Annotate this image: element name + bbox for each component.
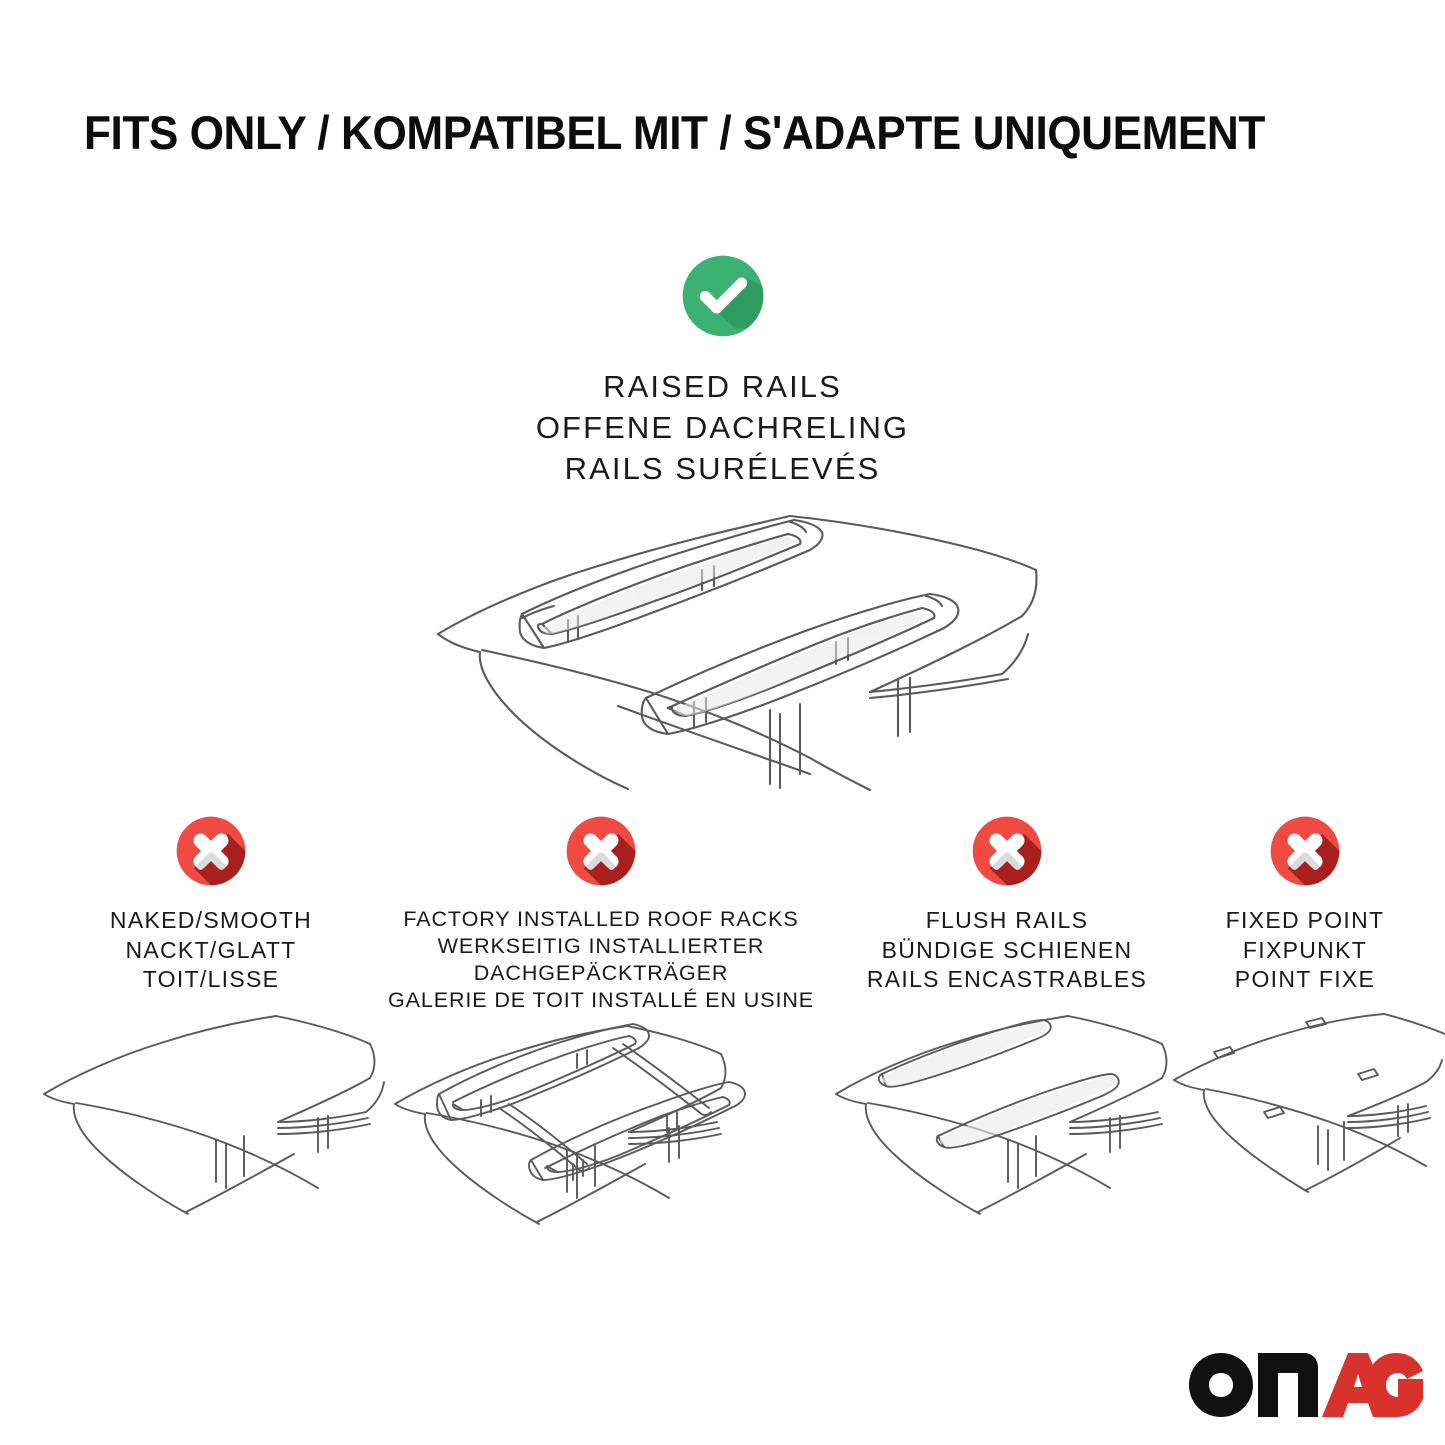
compatible-label-fr: RAILS SURÉLEVÉS <box>0 448 1445 489</box>
incompatible-label-de: NACKT/GLATT <box>26 936 396 966</box>
incompatible-label-en: NAKED/SMOOTH <box>26 906 396 936</box>
incompatible-item-fixed-point: FIXED POINT FIXPUNKT POINT FIXE <box>1168 812 1442 995</box>
incompatible-item-naked-smooth: NAKED/SMOOTH NACKT/GLATT TOIT/LISSE <box>26 812 396 995</box>
page-title: FITS ONLY / KOMPATIBEL MIT / S'ADAPTE UN… <box>84 106 1306 160</box>
incompatible-label-fr: POINT FIXE <box>1168 965 1442 995</box>
product-compatibility-infographic: FITS ONLY / KOMPATIBEL MIT / S'ADAPTE UN… <box>0 0 1445 1445</box>
red-x-icon <box>968 812 1046 890</box>
incompatible-label-de-2: DACHGEPÄCKTRÄGER <box>381 960 821 987</box>
incompatible-labels: FACTORY INSTALLED ROOF RACKS WERKSEITIG … <box>381 906 821 1014</box>
red-x-icon <box>172 812 250 890</box>
incompatible-label-fr: RAILS ENCASTRABLES <box>820 965 1194 995</box>
incompatible-label-de: BÜNDIGE SCHIENEN <box>820 936 1194 966</box>
car-roof-fixed-point-illustration <box>1168 1002 1442 1232</box>
incompatible-label-en: FLUSH RAILS <box>820 906 1194 936</box>
incompatible-labels: FLUSH RAILS BÜNDIGE SCHIENEN RAILS ENCAS… <box>820 906 1194 995</box>
incompatible-label-fr: TOIT/LISSE <box>26 965 396 995</box>
green-check-icon <box>675 248 771 344</box>
compatible-section: RAISED RAILS OFFENE DACHRELING RAILS SUR… <box>0 248 1445 490</box>
red-x-icon <box>562 812 640 890</box>
incompatible-label-de: FIXPUNKT <box>1168 936 1442 966</box>
compatible-labels: RAISED RAILS OFFENE DACHRELING RAILS SUR… <box>0 366 1445 490</box>
incompatible-labels: NAKED/SMOOTH NACKT/GLATT TOIT/LISSE <box>26 906 396 995</box>
omac-logo <box>1188 1352 1424 1418</box>
incompatible-item-flush-rails: FLUSH RAILS BÜNDIGE SCHIENEN RAILS ENCAS… <box>820 812 1194 995</box>
car-roof-with-raised-rails-illustration <box>418 492 1048 792</box>
car-roof-naked-smooth-illustration <box>26 1002 396 1232</box>
incompatible-labels: FIXED POINT FIXPUNKT POINT FIXE <box>1168 906 1442 995</box>
car-roof-flush-rails-illustration <box>820 1002 1194 1232</box>
incompatible-item-factory-roof-racks: FACTORY INSTALLED ROOF RACKS WERKSEITIG … <box>381 812 821 1014</box>
incompatible-label-en: FACTORY INSTALLED ROOF RACKS <box>381 906 821 933</box>
car-roof-factory-installed-roof-racks-illustration <box>381 1012 821 1242</box>
incompatible-label-fr: GALERIE DE TOIT INSTALLÉ EN USINE <box>381 987 821 1014</box>
compatible-label-en: RAISED RAILS <box>0 366 1445 407</box>
red-x-icon <box>1266 812 1344 890</box>
incompatible-label-de-1: WERKSEITIG INSTALLIERTER <box>381 933 821 960</box>
incompatible-sections: NAKED/SMOOTH NACKT/GLATT TOIT/LISSE <box>0 812 1445 1292</box>
incompatible-label-en: FIXED POINT <box>1168 906 1442 936</box>
compatible-label-de: OFFENE DACHRELING <box>0 407 1445 448</box>
